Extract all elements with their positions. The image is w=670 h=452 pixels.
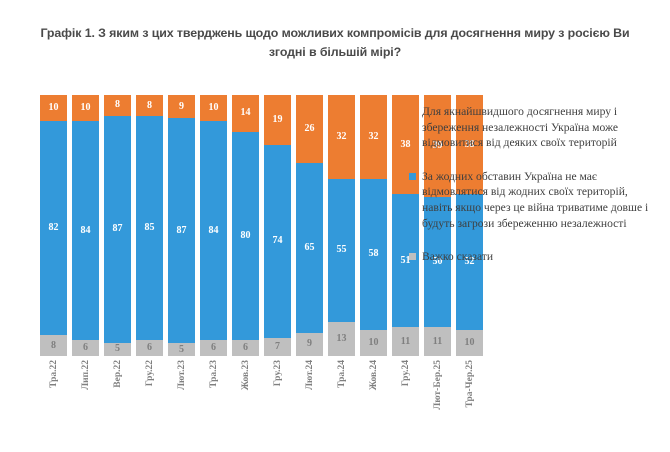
x-axis-tick-label: Гру.23	[264, 358, 291, 448]
chart-page: Графік 1. З яким з цих тверджень щодо мо…	[0, 0, 670, 452]
x-axis-tick-label: Тра.22	[40, 358, 67, 448]
bar-segment-agree: 26	[296, 95, 323, 163]
bar-segment-hard-to-say: 5	[104, 343, 131, 356]
bar-value-label: 26	[305, 124, 315, 134]
x-axis-tick-label: Жов.23	[232, 358, 259, 448]
bar-column: 10846	[72, 95, 99, 356]
bar-value-label: 84	[209, 226, 219, 236]
bar-value-label: 85	[145, 223, 155, 233]
bar-value-label: 8	[115, 100, 120, 110]
bar-column: 325810	[360, 95, 387, 356]
bar-segment-hard-to-say: 13	[328, 322, 355, 356]
bar-value-label: 6	[83, 343, 88, 353]
bar-segment-disagree: 74	[264, 145, 291, 338]
x-axis-tick-label: Лют.24	[296, 358, 323, 448]
bar-segment-disagree: 85	[136, 116, 163, 340]
bar-value-label: 11	[433, 337, 442, 347]
bar-value-label: 55	[337, 245, 347, 255]
bar-value-label: 7	[275, 342, 280, 352]
bar-value-label: 10	[209, 103, 219, 113]
bar-value-label: 10	[369, 338, 379, 348]
x-axis-tick-label: Гру.24	[392, 358, 419, 448]
bar-segment-agree: 10	[40, 95, 67, 121]
bar-value-label: 5	[179, 345, 184, 355]
bar-segment-hard-to-say: 9	[296, 333, 323, 356]
bar-segment-hard-to-say: 11	[392, 327, 419, 356]
x-axis-tick-label: Жов.24	[360, 358, 387, 448]
square-swatch-grey	[409, 253, 416, 260]
legend-item-label: За жодних обставин Україна не має відмов…	[422, 170, 648, 230]
square-swatch-orange	[409, 108, 416, 115]
bar-column: 8856	[136, 95, 163, 356]
bar-segment-disagree: 80	[232, 132, 259, 341]
bar-value-label: 14	[241, 108, 251, 118]
bar-segment-hard-to-say: 5	[168, 343, 195, 356]
plot-area: 1082810846887588569875108461480619747266…	[40, 95, 402, 356]
x-axis-tick-label: Лип.22	[72, 358, 99, 448]
legend-item[interactable]: За жодних обставин Україна не має відмов…	[409, 169, 661, 231]
bar-segment-agree: 8	[104, 95, 131, 116]
legend-item[interactable]: Для якнайшвидшого досягнення миру і збер…	[409, 104, 661, 151]
x-axis-labels: Тра.22Лип.22Вер.22Гру.22Лют.23Тра.23Жов.…	[40, 358, 402, 450]
bar-segment-hard-to-say: 6	[200, 340, 227, 356]
bar-segment-hard-to-say: 10	[456, 330, 483, 356]
bar-segment-hard-to-say: 6	[232, 340, 259, 356]
bar-value-label: 8	[51, 341, 56, 351]
bar-column: 10828	[40, 95, 67, 356]
bar-value-label: 6	[211, 343, 216, 353]
bar-value-label: 82	[49, 223, 59, 233]
x-axis-tick-label: Гру.22	[136, 358, 163, 448]
bar-value-label: 13	[337, 334, 347, 344]
page-title: Графік 1. З яким з цих тверджень щодо мо…	[30, 24, 640, 62]
bar-value-label: 6	[147, 343, 152, 353]
bar-value-label: 5	[115, 344, 120, 354]
bar-value-label: 10	[81, 103, 91, 113]
bar-value-label: 9	[307, 339, 312, 349]
bar-column: 14806	[232, 95, 259, 356]
legend-item-label: Важко сказати	[422, 250, 493, 263]
bar-value-label: 87	[177, 226, 187, 236]
bar-segment-agree: 14	[232, 95, 259, 132]
bar-segment-hard-to-say: 10	[360, 330, 387, 356]
bar-segment-agree: 32	[328, 95, 355, 179]
x-axis-tick-label: Вер.22	[104, 358, 131, 448]
bar-segment-agree: 10	[200, 95, 227, 121]
bar-segment-disagree: 87	[168, 118, 195, 343]
bar-value-label: 6	[243, 343, 248, 353]
bar-column: 8875	[104, 95, 131, 356]
bar-segment-disagree: 84	[72, 121, 99, 340]
bar-column: 10846	[200, 95, 227, 356]
bar-value-label: 8	[147, 101, 152, 111]
x-axis-tick-label: Тра-Чер.25	[456, 358, 483, 448]
bar-value-label: 74	[273, 236, 283, 246]
bar-segment-disagree: 82	[40, 121, 67, 335]
bar-segment-hard-to-say: 8	[40, 335, 67, 356]
legend-item[interactable]: Важко сказати	[409, 249, 661, 265]
bar-segment-hard-to-say: 6	[136, 340, 163, 356]
bar-value-label: 10	[465, 338, 475, 348]
bar-value-label: 58	[369, 249, 379, 259]
legend-item-label: Для якнайшвидшого досягнення миру і збер…	[422, 105, 618, 149]
bar-column: 19747	[264, 95, 291, 356]
bar-segment-disagree: 55	[328, 179, 355, 323]
bar-segment-hard-to-say: 11	[424, 327, 451, 356]
bar-segment-hard-to-say: 7	[264, 338, 291, 356]
chart-legend: Для якнайшвидшого досягнення миру і збер…	[409, 104, 661, 283]
bar-segment-agree: 19	[264, 95, 291, 145]
bar-value-label: 32	[369, 132, 379, 142]
bar-segment-disagree: 87	[104, 116, 131, 343]
bar-value-label: 11	[401, 337, 410, 347]
bar-segment-disagree: 58	[360, 179, 387, 330]
bar-segment-disagree: 65	[296, 163, 323, 333]
square-swatch-blue	[409, 173, 416, 180]
bar-value-label: 32	[337, 132, 347, 142]
bar-value-label: 9	[179, 102, 184, 112]
bar-value-label: 65	[305, 243, 315, 253]
bar-segment-agree: 10	[72, 95, 99, 121]
x-axis-tick-label: Лют-Бер.25	[424, 358, 451, 448]
bar-value-label: 87	[113, 224, 123, 234]
bar-segment-hard-to-say: 6	[72, 340, 99, 356]
x-axis-tick-label: Тра.24	[328, 358, 355, 448]
bar-segment-agree: 32	[360, 95, 387, 179]
x-axis-tick-label: Тра.23	[200, 358, 227, 448]
bar-segment-agree: 9	[168, 95, 195, 118]
bar-value-label: 84	[81, 226, 91, 236]
bar-value-label: 19	[273, 115, 283, 125]
bar-column: 325513	[328, 95, 355, 356]
bar-column: 9875	[168, 95, 195, 356]
bar-value-label: 10	[49, 103, 59, 113]
bar-segment-agree: 8	[136, 95, 163, 116]
x-axis-tick-label: Лют.23	[168, 358, 195, 448]
bar-segment-disagree: 84	[200, 121, 227, 340]
bar-column: 26659	[296, 95, 323, 356]
bar-value-label: 80	[241, 231, 251, 241]
